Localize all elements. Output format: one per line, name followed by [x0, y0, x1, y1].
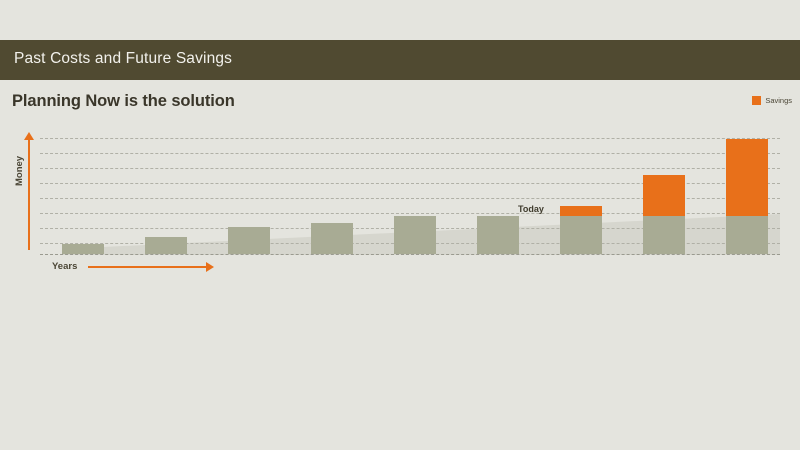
bar-segment-costs: [477, 216, 519, 254]
bar-segment-savings: [726, 139, 768, 216]
bar-segment-savings: [643, 175, 685, 216]
today-annotation-label: Today: [518, 204, 544, 214]
chart-baseline: [40, 254, 780, 255]
chart-plot-area: Today: [40, 134, 780, 254]
slide-canvas: Past Costs and Future Savings Planning N…: [0, 0, 800, 450]
x-axis-label: Years: [52, 261, 77, 272]
x-axis-arrow-icon: [206, 262, 214, 272]
bar-segment-costs: [62, 244, 104, 254]
legend-swatch-savings-icon: [752, 96, 761, 105]
y-axis-label: Money: [14, 156, 25, 186]
header-title: Past Costs and Future Savings: [14, 50, 232, 68]
bar-segment-costs: [643, 216, 685, 254]
chart-bar[interactable]: [62, 244, 104, 254]
bar-segment-costs: [560, 216, 602, 254]
chart-bar[interactable]: [145, 237, 187, 254]
chart-bar[interactable]: [477, 216, 519, 254]
bar-segment-costs: [726, 216, 768, 254]
gridline: [40, 153, 780, 154]
page-title: Planning Now is the solution: [12, 92, 235, 111]
bar-segment-costs: [311, 223, 353, 254]
chart-bar[interactable]: [228, 227, 270, 254]
bar-segment-costs: [228, 227, 270, 254]
chart-bar[interactable]: [643, 175, 685, 254]
chart-legend: Savings: [752, 96, 792, 105]
legend-label-savings: Savings: [765, 96, 792, 105]
chart-bar[interactable]: [726, 139, 768, 254]
gridline: [40, 138, 780, 139]
chart-bar[interactable]: [560, 206, 602, 254]
bar-segment-savings: [560, 206, 602, 216]
y-axis-arrow-icon: [24, 132, 34, 140]
gridline: [40, 168, 780, 169]
y-axis-line: [28, 138, 30, 250]
x-axis-line: [88, 266, 208, 268]
bar-segment-costs: [394, 216, 436, 254]
chart-bar[interactable]: [311, 223, 353, 254]
bar-segment-costs: [145, 237, 187, 254]
chart-bar[interactable]: [394, 216, 436, 254]
